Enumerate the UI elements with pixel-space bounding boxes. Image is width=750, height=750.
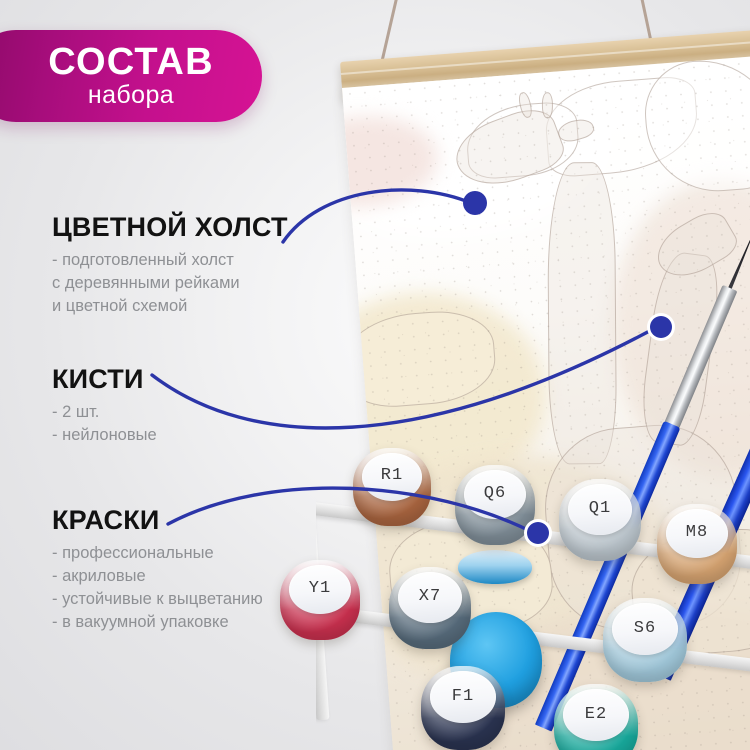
section-canvas-title: ЦВЕТНОЙ ХОЛСТ <box>52 212 288 242</box>
paint-pot-lid: Q1 <box>568 484 632 535</box>
badge-line-1: СОСТАВ <box>48 43 213 81</box>
paint-pot-lid: M8 <box>666 509 728 559</box>
paint-pot-lid: Y1 <box>289 565 351 615</box>
paint-pot-y1[interactable]: Y1 <box>280 560 360 640</box>
section-paints: КРАСКИ - профессиональные - акриловые - … <box>52 505 263 634</box>
section-brushes: КИСТИ - 2 шт. - нейлоновые <box>52 364 157 447</box>
paint-pot-q1[interactable]: Q1 <box>559 479 641 561</box>
paint-pot-code: F1 <box>452 687 474 706</box>
section-paints-lines: - профессиональные - акриловые - устойчи… <box>52 542 263 634</box>
paint-pot-q6[interactable]: Q6 <box>455 465 535 545</box>
paint-pot-code: Q1 <box>589 499 611 518</box>
section-canvas-line-1: - подготовленный холст <box>52 249 288 272</box>
paint-pot-lid: X7 <box>398 572 462 623</box>
composition-badge: СОСТАВ набора <box>0 30 262 122</box>
section-brushes-line-1: - 2 шт. <box>52 401 157 424</box>
paint-pot-lid: F1 <box>430 671 496 723</box>
paint-pot-lid: E2 <box>563 689 629 741</box>
promo-banner: R1Q6Q1M8Y1X7S6F1E2 СОСТАВ набора ЦВЕТНОЙ… <box>0 0 750 750</box>
open-paint-lid <box>458 550 532 584</box>
section-paints-line-3: - устойчивые к выцветанию <box>52 588 263 611</box>
paint-pot-code: Y1 <box>309 579 331 598</box>
badge-line-2: набора <box>88 82 174 109</box>
section-canvas-line-3: и цветной схемой <box>52 295 288 318</box>
paint-pot-code: S6 <box>634 619 656 638</box>
paint-pot-e2[interactable]: E2 <box>554 684 638 750</box>
paint-pot-s6[interactable]: S6 <box>603 598 687 682</box>
section-brushes-lines: - 2 шт. - нейлоновые <box>52 401 157 447</box>
section-canvas-lines: - подготовленный холст с деревянными рей… <box>52 249 288 318</box>
paint-pot-code: M8 <box>686 523 708 542</box>
paint-pot-x7[interactable]: X7 <box>389 567 471 649</box>
paint-pot-lid: R1 <box>362 453 423 501</box>
section-paints-title: КРАСКИ <box>52 505 263 535</box>
section-brushes-line-2: - нейлоновые <box>52 424 157 447</box>
section-canvas: ЦВЕТНОЙ ХОЛСТ - подготовленный холст с д… <box>52 212 288 318</box>
paint-pot-r1[interactable]: R1 <box>353 448 431 526</box>
section-paints-line-1: - профессиональные <box>52 542 263 565</box>
section-paints-line-2: - акриловые <box>52 565 263 588</box>
section-paints-line-4: - в вакуумной упаковке <box>52 611 263 634</box>
paint-pot-code: E2 <box>585 705 607 724</box>
paint-pot-lid: Q6 <box>464 470 526 520</box>
paint-pot-f1[interactable]: F1 <box>421 666 505 750</box>
paint-pot-m8[interactable]: M8 <box>657 504 737 584</box>
section-brushes-title: КИСТИ <box>52 364 157 394</box>
paint-pot-code: X7 <box>419 587 441 606</box>
section-canvas-line-2: с деревянными рейками <box>52 272 288 295</box>
paint-pot-lid: S6 <box>612 603 678 655</box>
paint-pot-code: Q6 <box>484 484 506 503</box>
paint-pot-code: R1 <box>381 466 403 485</box>
